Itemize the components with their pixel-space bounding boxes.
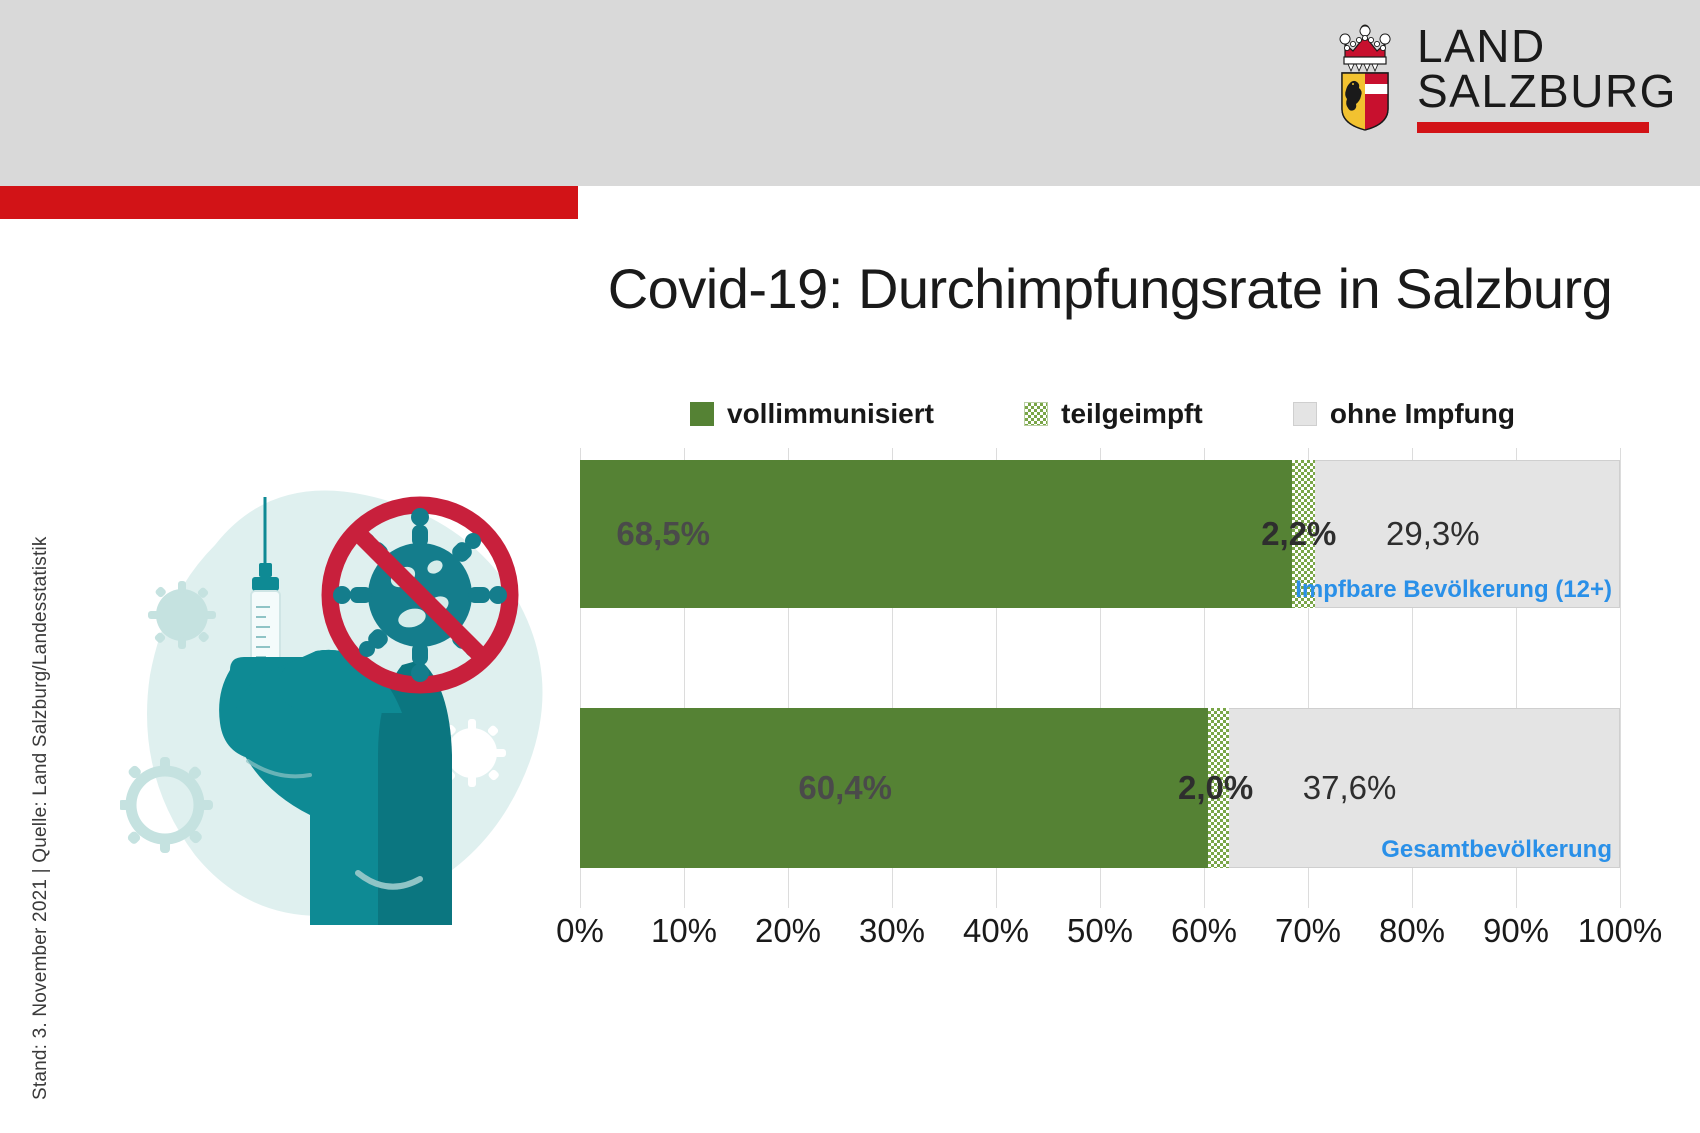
legend-label-none: ohne Impfung [1330,398,1515,430]
logo-line-2: SALZBURG [1417,69,1677,114]
legend-swatch-icon-none [1293,402,1317,426]
bar-segment-vollimmunisiert [580,708,1208,868]
x-axis-tick: 20% [755,912,821,950]
page-title: Covid-19: Durchimpfungsrate in Salzburg [580,256,1640,321]
bar-value-vollimmunisiert: 60,4% [798,769,892,807]
legend-swatch-icon-full [690,402,714,426]
bar-value-ohne-impfung: 29,3% [1386,515,1480,553]
salzburg-coat-of-arms-icon [1333,24,1397,132]
bar-category-label-impfbare: Impfbare Bevölkerung (12+) [1295,576,1612,604]
x-axis-tick: 50% [1067,912,1133,950]
logo-underline [1417,122,1649,133]
land-salzburg-logo: LAND SALZBURG [1333,24,1677,133]
hand-holding-syringe-no-virus-icon [120,455,580,935]
x-axis-tick: 100% [1578,912,1662,950]
x-axis-tick: 80% [1379,912,1445,950]
x-axis-tick: 30% [859,912,925,950]
x-axis-tick: 40% [963,912,1029,950]
source-note: Stand: 3. November 2021 | Quelle: Land S… [30,480,52,1100]
legend-item-teilgeimpft[interactable]: teilgeimpft [1024,398,1203,430]
bar-value-teilgeimpft: 2,0% [1178,769,1253,807]
header-red-accent-bar [0,186,578,219]
stacked-bar-chart: 68,5% 2,2% 29,3% Impfbare Bevölkerung (1… [580,448,1620,908]
x-axis-tick: 60% [1171,912,1237,950]
bar-row-gesamtbevoelkerung[interactable]: 60,4% 2,0% 37,6% Gesamtbevölkerung [580,708,1620,868]
x-axis-tick: 70% [1275,912,1341,950]
legend-label-partial: teilgeimpft [1061,398,1203,430]
legend-label-full: vollimmunisiert [727,398,934,430]
bar-value-teilgeimpft: 2,2% [1261,515,1336,553]
bar-category-label-gesamt: Gesamtbevölkerung [1381,836,1612,864]
x-axis: 0% 10% 20% 30% 40% 50% 60% 70% 80% 90% 1… [580,912,1620,962]
x-axis-tick: 10% [651,912,717,950]
x-axis-tick: 90% [1483,912,1549,950]
legend-swatch-icon-partial [1024,402,1048,426]
x-axis-tick: 0% [556,912,604,950]
legend-item-ohne-impfung[interactable]: ohne Impfung [1293,398,1515,430]
logo-wordmark: LAND SALZBURG [1417,24,1677,133]
bar-value-vollimmunisiert: 68,5% [616,515,710,553]
chart-legend: vollimmunisiert teilgeimpft ohne Impfung [580,398,1620,430]
bar-row-impfbare-bevoelkerung[interactable]: 68,5% 2,2% 29,3% Impfbare Bevölkerung (1… [580,460,1620,608]
legend-item-vollimmunisiert[interactable]: vollimmunisiert [690,398,934,430]
logo-line-1: LAND [1417,24,1677,69]
gridline [1620,448,1621,908]
bar-value-ohne-impfung: 37,6% [1303,769,1397,807]
